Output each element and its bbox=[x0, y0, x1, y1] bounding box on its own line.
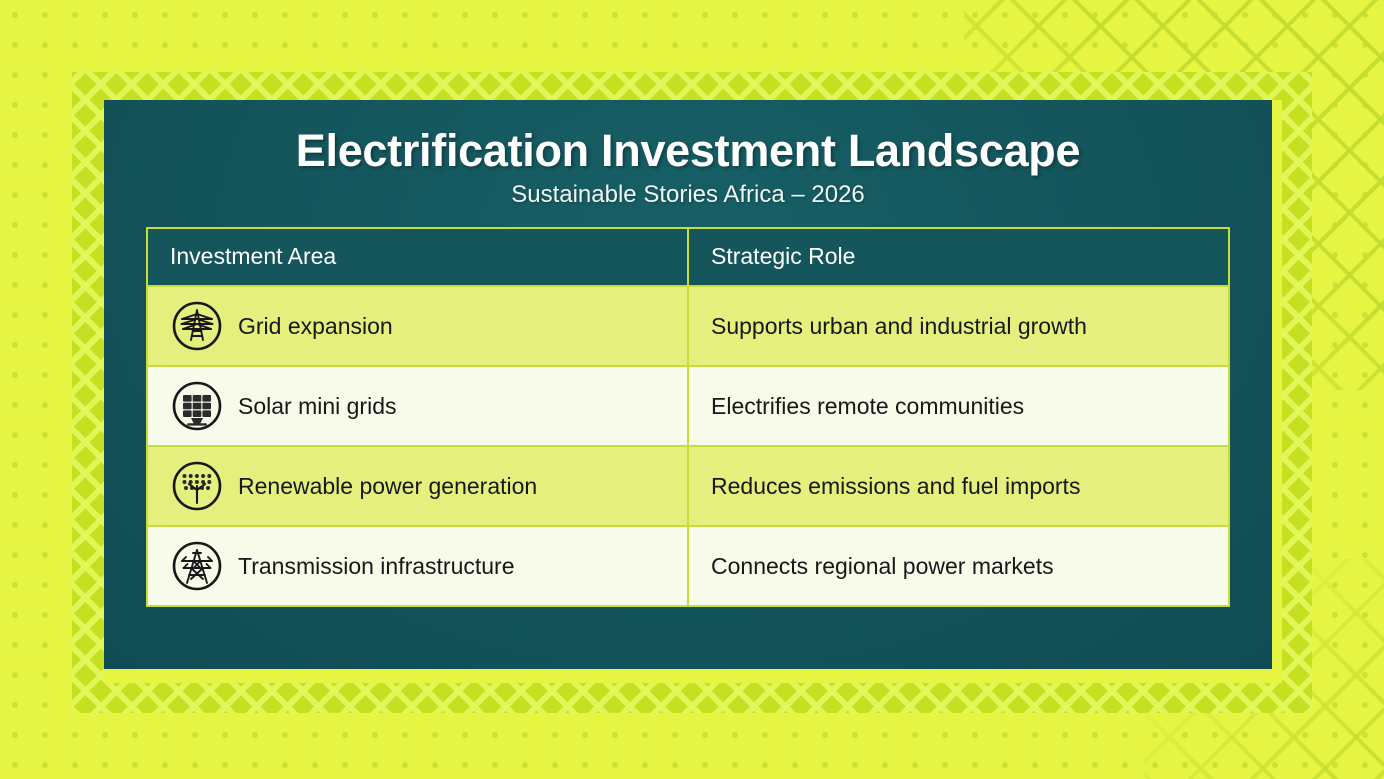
investment-area-label: Grid expansion bbox=[238, 315, 393, 338]
page-subtitle: Sustainable Stories Africa – 2026 bbox=[146, 181, 1230, 209]
cell-strategic-role: Electrifies remote communities bbox=[688, 366, 1229, 446]
solar-panel-icon bbox=[170, 379, 224, 433]
table-row: Transmission infrastructure Connects reg… bbox=[147, 526, 1229, 606]
column-header-strategic-role: Strategic Role bbox=[688, 228, 1229, 286]
cell-strategic-role: Supports urban and industrial growth bbox=[688, 286, 1229, 366]
page-title: Electrification Investment Landscape bbox=[146, 124, 1230, 177]
cell-strategic-role: Connects regional power markets bbox=[688, 526, 1229, 606]
table-row: Renewable power generation Reduces emiss… bbox=[147, 446, 1229, 526]
cell-investment-area: Grid expansion bbox=[147, 286, 688, 366]
table-header-row: Investment Area Strategic Role bbox=[147, 228, 1229, 286]
table-body: Grid expansion Supports urban and indust… bbox=[147, 286, 1229, 606]
column-header-investment-area: Investment Area bbox=[147, 228, 688, 286]
cell-investment-area: Solar mini grids bbox=[147, 366, 688, 446]
cell-investment-area: Renewable power generation bbox=[147, 446, 688, 526]
slide-canvas: Electrification Investment Landscape Sus… bbox=[0, 0, 1384, 779]
transmission-tower-icon bbox=[170, 539, 224, 593]
cell-investment-area: Transmission infrastructure bbox=[147, 526, 688, 606]
investment-area-label: Renewable power generation bbox=[238, 475, 537, 498]
investment-table-wrapper: Investment Area Strategic Role bbox=[146, 227, 1230, 607]
investment-table: Investment Area Strategic Role bbox=[146, 227, 1230, 607]
renewable-generation-icon bbox=[170, 459, 224, 513]
table-header: Investment Area Strategic Role bbox=[147, 228, 1229, 286]
power-pylon-icon bbox=[170, 299, 224, 353]
table-row: Grid expansion Supports urban and indust… bbox=[147, 286, 1229, 366]
investment-area-label: Solar mini grids bbox=[238, 395, 397, 418]
cell-strategic-role: Reduces emissions and fuel imports bbox=[688, 446, 1229, 526]
investment-area-label: Transmission infrastructure bbox=[238, 555, 515, 578]
table-row: Solar mini grids Electrifies remote comm… bbox=[147, 366, 1229, 446]
content-card: Electrification Investment Landscape Sus… bbox=[104, 100, 1272, 669]
